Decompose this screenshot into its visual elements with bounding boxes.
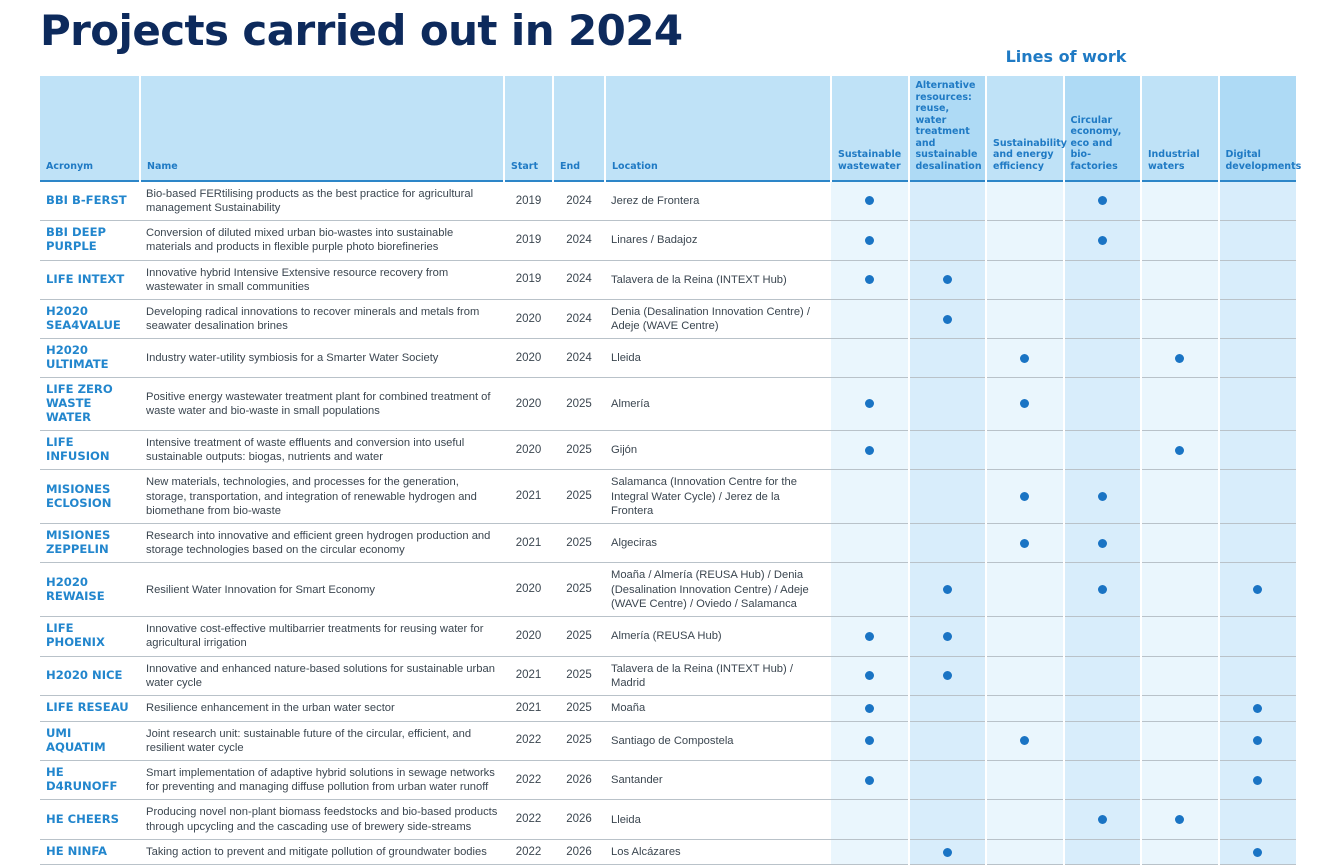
- cell-start: 2021: [504, 470, 553, 524]
- cell-name: Positive energy wastewater treatment pla…: [140, 378, 504, 431]
- cell-line-of-work-4: [1064, 656, 1142, 695]
- cell-line-of-work-4: [1064, 260, 1142, 299]
- cell-line-of-work-1: [831, 378, 909, 431]
- cell-end: 2026: [553, 761, 605, 800]
- line-of-work-dot-icon: [1020, 354, 1029, 363]
- line-of-work-dot-icon: [865, 776, 874, 785]
- cell-acronym: LIFE ZERO WASTE WATER: [40, 378, 140, 431]
- line-of-work-empty: [1253, 196, 1262, 205]
- line-of-work-empty: [943, 736, 952, 745]
- cell-line-of-work-3: [986, 721, 1064, 760]
- line-of-work-dot-icon: [865, 632, 874, 641]
- line-of-work-empty: [865, 492, 874, 501]
- cell-acronym: LIFE RESEAU: [40, 695, 140, 721]
- line-of-work-empty: [1020, 585, 1029, 594]
- line-of-work-empty: [1253, 446, 1262, 455]
- table-row: BBI DEEP PURPLEConversion of diluted mix…: [40, 221, 1296, 260]
- line-of-work-empty: [1175, 196, 1184, 205]
- cell-location: Salamanca (Innovation Centre for the Int…: [605, 470, 831, 524]
- cell-name: Innovative and enhanced nature-based sol…: [140, 656, 504, 695]
- cell-line-of-work-5: [1141, 839, 1219, 865]
- table-header: AcronymNameStartEndLocationSustainable w…: [40, 76, 1296, 181]
- line-of-work-empty: [1020, 815, 1029, 824]
- projects-table: AcronymNameStartEndLocationSustainable w…: [40, 76, 1296, 865]
- cell-name: Resilient Water Innovation for Smart Eco…: [140, 563, 504, 617]
- cell-line-of-work-2: [909, 656, 987, 695]
- cell-line-of-work-3: [986, 656, 1064, 695]
- cell-line-of-work-5: [1141, 800, 1219, 839]
- cell-start: 2022: [504, 800, 553, 839]
- cell-line-of-work-6: [1219, 181, 1297, 221]
- cell-line-of-work-4: [1064, 181, 1142, 221]
- line-of-work-dot-icon: [1098, 492, 1107, 501]
- line-of-work-dot-icon: [1098, 585, 1107, 594]
- cell-acronym: HE NINFA: [40, 839, 140, 865]
- line-of-work-empty: [1253, 815, 1262, 824]
- line-of-work-empty: [1175, 736, 1184, 745]
- cell-line-of-work-6: [1219, 563, 1297, 617]
- cell-line-of-work-3: [986, 524, 1064, 563]
- page-root: Projects carried out in 2024 Lines of wo…: [0, 0, 1337, 865]
- table-row: H2020 REWAISEResilient Water Innovation …: [40, 563, 1296, 617]
- line-of-work-empty: [1175, 585, 1184, 594]
- cell-line-of-work-3: [986, 617, 1064, 656]
- cell-location: Jerez de Frontera: [605, 181, 831, 221]
- cell-line-of-work-6: [1219, 299, 1297, 338]
- cell-name: Taking action to prevent and mitigate po…: [140, 839, 504, 865]
- column-header-acronym: Acronym: [40, 76, 140, 181]
- line-of-work-empty: [865, 815, 874, 824]
- cell-line-of-work-3: [986, 430, 1064, 469]
- cell-line-of-work-4: [1064, 378, 1142, 431]
- cell-name: Smart implementation of adaptive hybrid …: [140, 761, 504, 800]
- line-of-work-empty: [1098, 848, 1107, 857]
- line-of-work-empty: [943, 446, 952, 455]
- table-row: LIFE PHOENIXInnovative cost-effective mu…: [40, 617, 1296, 656]
- page-title: Projects carried out in 2024: [40, 6, 683, 55]
- table-body: BBI B-FERSTBio-based FERtilising product…: [40, 181, 1296, 865]
- cell-line-of-work-4: [1064, 339, 1142, 378]
- line-of-work-dot-icon: [1098, 196, 1107, 205]
- cell-line-of-work-5: [1141, 470, 1219, 524]
- cell-line-of-work-4: [1064, 470, 1142, 524]
- cell-name: Innovative cost-effective multibarrier t…: [140, 617, 504, 656]
- line-of-work-dot-icon: [865, 399, 874, 408]
- cell-end: 2024: [553, 221, 605, 260]
- line-of-work-empty: [1098, 671, 1107, 680]
- cell-line-of-work-2: [909, 221, 987, 260]
- table-row: LIFE INTEXTInnovative hybrid Intensive E…: [40, 260, 1296, 299]
- line-of-work-empty: [1098, 736, 1107, 745]
- cell-start: 2019: [504, 260, 553, 299]
- cell-line-of-work-4: [1064, 721, 1142, 760]
- cell-line-of-work-1: [831, 839, 909, 865]
- cell-location: Talavera de la Reina (INTEXT Hub): [605, 260, 831, 299]
- cell-acronym: MISIONES ECLOSION: [40, 470, 140, 524]
- table-row: MISIONES ZEPPELINResearch into innovativ…: [40, 524, 1296, 563]
- line-of-work-empty: [943, 492, 952, 501]
- line-of-work-empty: [943, 196, 952, 205]
- line-of-work-empty: [1175, 539, 1184, 548]
- cell-line-of-work-1: [831, 695, 909, 721]
- line-of-work-dot-icon: [865, 704, 874, 713]
- line-of-work-empty: [1175, 776, 1184, 785]
- line-of-work-empty: [1098, 399, 1107, 408]
- line-of-work-dot-icon: [1175, 354, 1184, 363]
- line-of-work-empty: [943, 815, 952, 824]
- column-header-end: End: [553, 76, 605, 181]
- cell-line-of-work-4: [1064, 524, 1142, 563]
- cell-end: 2025: [553, 470, 605, 524]
- cell-line-of-work-5: [1141, 563, 1219, 617]
- cell-line-of-work-6: [1219, 800, 1297, 839]
- cell-name: Developing radical innovations to recove…: [140, 299, 504, 338]
- line-of-work-empty: [1175, 492, 1184, 501]
- cell-line-of-work-4: [1064, 221, 1142, 260]
- cell-line-of-work-3: [986, 181, 1064, 221]
- line-of-work-dot-icon: [1098, 236, 1107, 245]
- line-of-work-dot-icon: [1253, 704, 1262, 713]
- cell-line-of-work-1: [831, 524, 909, 563]
- cell-location: Santander: [605, 761, 831, 800]
- line-of-work-dot-icon: [1020, 492, 1029, 501]
- cell-line-of-work-4: [1064, 617, 1142, 656]
- cell-line-of-work-2: [909, 339, 987, 378]
- line-of-work-empty: [1098, 315, 1107, 324]
- cell-line-of-work-4: [1064, 430, 1142, 469]
- line-of-work-empty: [1253, 399, 1262, 408]
- cell-line-of-work-1: [831, 800, 909, 839]
- cell-location: Los Alcázares: [605, 839, 831, 865]
- cell-line-of-work-5: [1141, 260, 1219, 299]
- line-of-work-dot-icon: [865, 275, 874, 284]
- cell-line-of-work-5: [1141, 378, 1219, 431]
- table-header-row: AcronymNameStartEndLocationSustainable w…: [40, 76, 1296, 181]
- line-of-work-empty: [943, 776, 952, 785]
- cell-acronym: UMI AQUATIM: [40, 721, 140, 760]
- cell-start: 2019: [504, 221, 553, 260]
- cell-location: Almería: [605, 378, 831, 431]
- column-header-line-of-work-4: Circular economy, eco and bio-factories: [1064, 76, 1142, 181]
- line-of-work-dot-icon: [1253, 736, 1262, 745]
- cell-line-of-work-3: [986, 260, 1064, 299]
- line-of-work-empty: [1175, 236, 1184, 245]
- cell-line-of-work-4: [1064, 800, 1142, 839]
- line-of-work-dot-icon: [1020, 399, 1029, 408]
- column-header-name: Name: [140, 76, 504, 181]
- cell-start: 2022: [504, 839, 553, 865]
- cell-line-of-work-4: [1064, 695, 1142, 721]
- cell-name: Industry water-utility symbiosis for a S…: [140, 339, 504, 378]
- cell-line-of-work-6: [1219, 656, 1297, 695]
- cell-end: 2026: [553, 800, 605, 839]
- cell-line-of-work-2: [909, 470, 987, 524]
- line-of-work-empty: [865, 315, 874, 324]
- cell-line-of-work-3: [986, 378, 1064, 431]
- line-of-work-dot-icon: [1253, 776, 1262, 785]
- cell-line-of-work-1: [831, 563, 909, 617]
- cell-line-of-work-1: [831, 656, 909, 695]
- cell-line-of-work-1: [831, 761, 909, 800]
- line-of-work-empty: [1175, 671, 1184, 680]
- cell-end: 2025: [553, 656, 605, 695]
- cell-line-of-work-5: [1141, 181, 1219, 221]
- cell-end: 2026: [553, 839, 605, 865]
- line-of-work-empty: [865, 354, 874, 363]
- cell-line-of-work-2: [909, 800, 987, 839]
- cell-end: 2024: [553, 260, 605, 299]
- cell-line-of-work-2: [909, 299, 987, 338]
- line-of-work-empty: [1253, 539, 1262, 548]
- line-of-work-empty: [1020, 446, 1029, 455]
- cell-location: Gijón: [605, 430, 831, 469]
- cell-line-of-work-4: [1064, 839, 1142, 865]
- cell-acronym: MISIONES ZEPPELIN: [40, 524, 140, 563]
- cell-name: Innovative hybrid Intensive Extensive re…: [140, 260, 504, 299]
- cell-line-of-work-6: [1219, 617, 1297, 656]
- cell-line-of-work-6: [1219, 339, 1297, 378]
- line-of-work-empty: [865, 585, 874, 594]
- cell-line-of-work-6: [1219, 761, 1297, 800]
- table-row: LIFE ZERO WASTE WATERPositive energy was…: [40, 378, 1296, 431]
- cell-acronym: HE D4RUNOFF: [40, 761, 140, 800]
- cell-end: 2025: [553, 378, 605, 431]
- table-row: LIFE INFUSIONIntensive treatment of wast…: [40, 430, 1296, 469]
- cell-location: Algeciras: [605, 524, 831, 563]
- cell-line-of-work-2: [909, 430, 987, 469]
- line-of-work-dot-icon: [943, 315, 952, 324]
- line-of-work-dot-icon: [1098, 539, 1107, 548]
- cell-line-of-work-5: [1141, 524, 1219, 563]
- line-of-work-empty: [1098, 275, 1107, 284]
- line-of-work-empty: [943, 704, 952, 713]
- table-row: HE CHEERSProducing novel non-plant bioma…: [40, 800, 1296, 839]
- table-row: LIFE RESEAUResilience enhancement in the…: [40, 695, 1296, 721]
- line-of-work-empty: [865, 539, 874, 548]
- cell-end: 2025: [553, 721, 605, 760]
- cell-end: 2024: [553, 299, 605, 338]
- cell-name: Resilience enhancement in the urban wate…: [140, 695, 504, 721]
- cell-line-of-work-2: [909, 839, 987, 865]
- cell-name: Conversion of diluted mixed urban bio-wa…: [140, 221, 504, 260]
- cell-line-of-work-1: [831, 299, 909, 338]
- line-of-work-empty: [1253, 315, 1262, 324]
- line-of-work-dot-icon: [865, 671, 874, 680]
- line-of-work-empty: [1175, 632, 1184, 641]
- cell-line-of-work-3: [986, 563, 1064, 617]
- line-of-work-empty: [1020, 776, 1029, 785]
- cell-line-of-work-1: [831, 617, 909, 656]
- cell-name: Intensive treatment of waste effluents a…: [140, 430, 504, 469]
- cell-acronym: BBI B-FERST: [40, 181, 140, 221]
- cell-acronym: LIFE PHOENIX: [40, 617, 140, 656]
- cell-line-of-work-2: [909, 617, 987, 656]
- cell-start: 2020: [504, 339, 553, 378]
- cell-line-of-work-4: [1064, 299, 1142, 338]
- cell-acronym: H2020 NICE: [40, 656, 140, 695]
- cell-line-of-work-5: [1141, 695, 1219, 721]
- line-of-work-empty: [1098, 632, 1107, 641]
- cell-name: Bio-based FERtilising products as the be…: [140, 181, 504, 221]
- line-of-work-empty: [943, 399, 952, 408]
- cell-start: 2019: [504, 181, 553, 221]
- line-of-work-dot-icon: [1253, 585, 1262, 594]
- cell-acronym: H2020 SEA4VALUE: [40, 299, 140, 338]
- table-row: UMI AQUATIMJoint research unit: sustaina…: [40, 721, 1296, 760]
- cell-acronym: BBI DEEP PURPLE: [40, 221, 140, 260]
- line-of-work-dot-icon: [1098, 815, 1107, 824]
- cell-end: 2024: [553, 339, 605, 378]
- cell-line-of-work-3: [986, 470, 1064, 524]
- cell-location: Moaña / Almería (REUSA Hub) / Denia (Des…: [605, 563, 831, 617]
- line-of-work-empty: [943, 354, 952, 363]
- cell-line-of-work-5: [1141, 656, 1219, 695]
- line-of-work-empty: [1253, 236, 1262, 245]
- cell-line-of-work-6: [1219, 721, 1297, 760]
- line-of-work-empty: [1020, 196, 1029, 205]
- line-of-work-empty: [1175, 399, 1184, 408]
- cell-line-of-work-5: [1141, 430, 1219, 469]
- cell-acronym: LIFE INFUSION: [40, 430, 140, 469]
- cell-line-of-work-1: [831, 430, 909, 469]
- cell-location: Almería (REUSA Hub): [605, 617, 831, 656]
- cell-line-of-work-1: [831, 260, 909, 299]
- cell-start: 2020: [504, 617, 553, 656]
- line-of-work-dot-icon: [1020, 539, 1029, 548]
- cell-name: Joint research unit: sustainable future …: [140, 721, 504, 760]
- table-row: H2020 ULTIMATEIndustry water-utility sym…: [40, 339, 1296, 378]
- line-of-work-dot-icon: [1175, 446, 1184, 455]
- line-of-work-empty: [1175, 315, 1184, 324]
- cell-line-of-work-6: [1219, 524, 1297, 563]
- table-row: H2020 SEA4VALUEDeveloping radical innova…: [40, 299, 1296, 338]
- cell-end: 2025: [553, 563, 605, 617]
- cell-end: 2025: [553, 695, 605, 721]
- cell-location: Denia (Desalination Innovation Centre) /…: [605, 299, 831, 338]
- line-of-work-empty: [1020, 315, 1029, 324]
- cell-line-of-work-3: [986, 695, 1064, 721]
- table-row: HE D4RUNOFFSmart implementation of adapt…: [40, 761, 1296, 800]
- cell-location: Linares / Badajoz: [605, 221, 831, 260]
- cell-line-of-work-2: [909, 563, 987, 617]
- line-of-work-empty: [1098, 354, 1107, 363]
- column-header-line-of-work-6: Digital developments: [1219, 76, 1297, 181]
- line-of-work-dot-icon: [943, 585, 952, 594]
- cell-start: 2020: [504, 563, 553, 617]
- cell-line-of-work-2: [909, 761, 987, 800]
- cell-end: 2025: [553, 524, 605, 563]
- line-of-work-empty: [1175, 704, 1184, 713]
- cell-line-of-work-5: [1141, 221, 1219, 260]
- cell-line-of-work-3: [986, 299, 1064, 338]
- table-row: BBI B-FERSTBio-based FERtilising product…: [40, 181, 1296, 221]
- cell-location: Talavera de la Reina (INTEXT Hub) / Madr…: [605, 656, 831, 695]
- column-header-line-of-work-2: Alternative resources: reuse, water trea…: [909, 76, 987, 181]
- cell-line-of-work-6: [1219, 221, 1297, 260]
- cell-start: 2021: [504, 524, 553, 563]
- cell-location: Santiago de Compostela: [605, 721, 831, 760]
- table-row: H2020 NICEInnovative and enhanced nature…: [40, 656, 1296, 695]
- line-of-work-dot-icon: [943, 848, 952, 857]
- column-header-start: Start: [504, 76, 553, 181]
- cell-line-of-work-5: [1141, 761, 1219, 800]
- line-of-work-empty: [1098, 704, 1107, 713]
- cell-name: Research into innovative and efficient g…: [140, 524, 504, 563]
- cell-acronym: LIFE INTEXT: [40, 260, 140, 299]
- cell-line-of-work-2: [909, 695, 987, 721]
- cell-line-of-work-1: [831, 470, 909, 524]
- cell-start: 2020: [504, 378, 553, 431]
- cell-line-of-work-6: [1219, 839, 1297, 865]
- line-of-work-empty: [1020, 275, 1029, 284]
- cell-line-of-work-6: [1219, 430, 1297, 469]
- cell-line-of-work-6: [1219, 695, 1297, 721]
- line-of-work-empty: [865, 848, 874, 857]
- cell-line-of-work-1: [831, 221, 909, 260]
- line-of-work-empty: [1253, 354, 1262, 363]
- line-of-work-empty: [1098, 776, 1107, 785]
- line-of-work-dot-icon: [943, 275, 952, 284]
- cell-line-of-work-2: [909, 260, 987, 299]
- cell-line-of-work-2: [909, 524, 987, 563]
- cell-location: Lleida: [605, 800, 831, 839]
- line-of-work-empty: [1175, 275, 1184, 284]
- cell-line-of-work-5: [1141, 721, 1219, 760]
- column-header-line-of-work-1: Sustainable wastewater: [831, 76, 909, 181]
- cell-start: 2022: [504, 721, 553, 760]
- cell-line-of-work-3: [986, 221, 1064, 260]
- cell-line-of-work-2: [909, 181, 987, 221]
- line-of-work-empty: [1098, 446, 1107, 455]
- cell-line-of-work-4: [1064, 761, 1142, 800]
- cell-acronym: HE CHEERS: [40, 800, 140, 839]
- cell-name: Producing novel non-plant biomass feedst…: [140, 800, 504, 839]
- line-of-work-dot-icon: [865, 236, 874, 245]
- cell-line-of-work-5: [1141, 339, 1219, 378]
- column-header-location: Location: [605, 76, 831, 181]
- cell-line-of-work-5: [1141, 299, 1219, 338]
- line-of-work-empty: [1020, 671, 1029, 680]
- cell-acronym: H2020 ULTIMATE: [40, 339, 140, 378]
- cell-end: 2025: [553, 617, 605, 656]
- cell-line-of-work-6: [1219, 470, 1297, 524]
- cell-line-of-work-3: [986, 800, 1064, 839]
- line-of-work-dot-icon: [1253, 848, 1262, 857]
- line-of-work-dot-icon: [865, 736, 874, 745]
- line-of-work-dot-icon: [1175, 815, 1184, 824]
- column-header-line-of-work-5: Industrial waters: [1141, 76, 1219, 181]
- line-of-work-dot-icon: [943, 671, 952, 680]
- line-of-work-dot-icon: [1020, 736, 1029, 745]
- cell-start: 2020: [504, 299, 553, 338]
- table-row: HE NINFATaking action to prevent and mit…: [40, 839, 1296, 865]
- cell-start: 2020: [504, 430, 553, 469]
- lines-of-work-title: Lines of work: [836, 47, 1296, 66]
- column-header-line-of-work-3: Sustainability and energy efficiency: [986, 76, 1064, 181]
- cell-line-of-work-1: [831, 339, 909, 378]
- cell-end: 2025: [553, 430, 605, 469]
- line-of-work-dot-icon: [943, 632, 952, 641]
- cell-name: New materials, technologies, and process…: [140, 470, 504, 524]
- cell-line-of-work-2: [909, 721, 987, 760]
- line-of-work-empty: [1020, 704, 1029, 713]
- line-of-work-empty: [943, 539, 952, 548]
- cell-start: 2021: [504, 656, 553, 695]
- cell-start: 2022: [504, 761, 553, 800]
- line-of-work-empty: [1253, 671, 1262, 680]
- line-of-work-empty: [1253, 492, 1262, 501]
- cell-line-of-work-5: [1141, 617, 1219, 656]
